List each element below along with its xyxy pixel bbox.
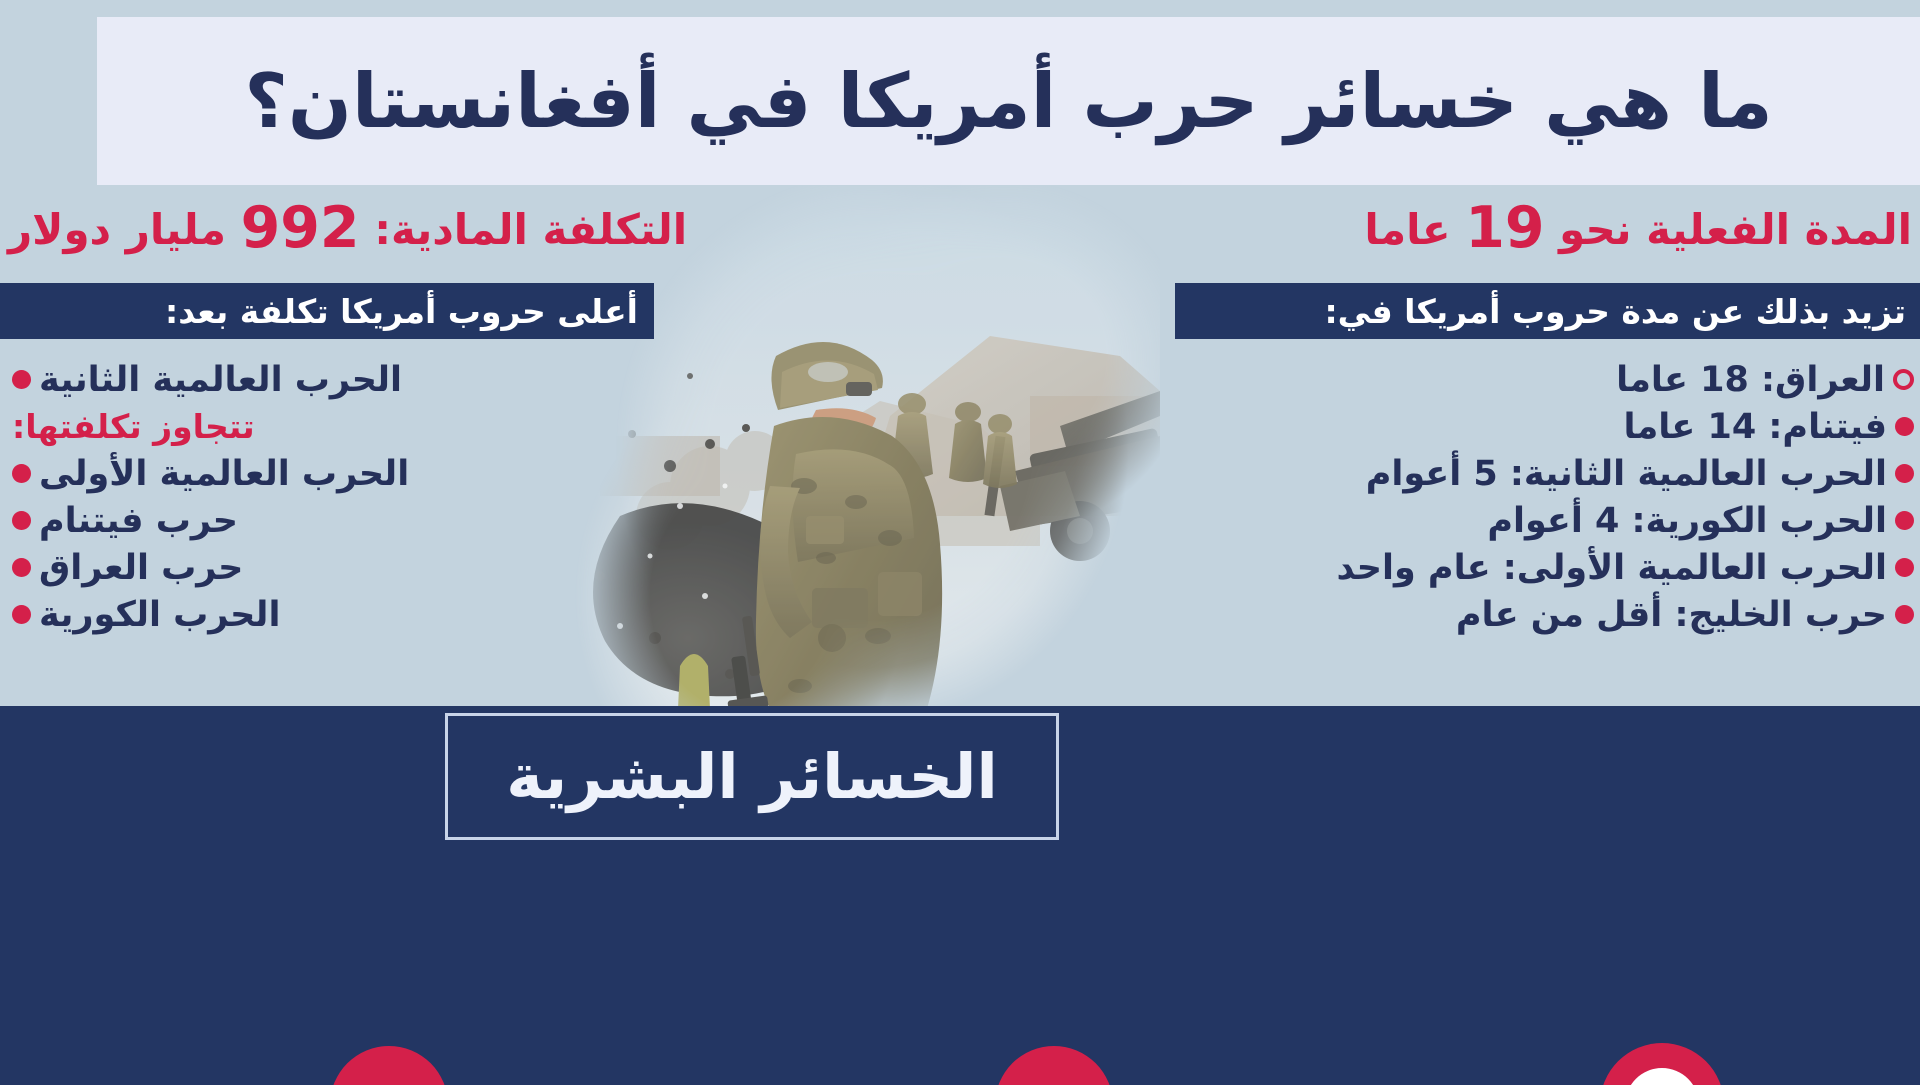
list-item: فيتنام: 14 عاما (1623, 403, 1914, 450)
list-item: الحرب العالمية الثانية: 5 أعوام (1366, 450, 1914, 497)
list-item-label: حرب الخليج: أقل من عام (1456, 595, 1887, 635)
list-item-label: الحرب العالمية الثانية (39, 360, 402, 400)
dot-icon (12, 464, 31, 483)
dot-icon (1895, 558, 1914, 577)
soldier-artillery-photo (560, 186, 1160, 756)
list-item-label: حرب فيتنام (39, 501, 238, 541)
dot-icon (12, 558, 31, 577)
list-item: العراق: 18 عاما (1616, 356, 1914, 403)
duration-headline: المدة الفعلية نحو 19 عاما (1364, 196, 1912, 262)
list-item: حرب فيتنام (0, 497, 238, 544)
list-item: الحرب الكورية: 4 أعوام (1487, 497, 1914, 544)
dot-icon (1895, 511, 1914, 530)
duration-banner-text: تزيد بذلك عن مدة حروب أمريكا في: (1324, 292, 1906, 331)
dot-icon (1895, 464, 1914, 483)
list-item: الحرب العالمية الأولى: عام واحد (1337, 544, 1914, 591)
list-item: الحرب الكورية (0, 591, 280, 638)
list-item-label: الحرب الكورية (39, 595, 280, 635)
cost-note: تتجاوز تكلفتها: (0, 403, 255, 450)
cost-list: الحرب العالمية الثانية تتجاوز تكلفتها: ا… (0, 356, 560, 638)
cost-banner: أعلى حروب أمريكا تكلفة بعد: (0, 283, 654, 339)
list-item: الحرب العالمية الثانية (0, 356, 402, 403)
bottom-circle-right-inner (1625, 1068, 1699, 1085)
bottom-heading-text: الخسائر البشرية (506, 746, 997, 808)
dot-icon (12, 605, 31, 624)
duration-list: العراق: 18 عاما فيتنام: 14 عاما الحرب ال… (1337, 356, 1914, 638)
list-item-label: الحرب العالمية الثانية: 5 أعوام (1366, 454, 1887, 494)
cost-headline-prefix: التكلفة المادية: (374, 205, 687, 254)
bottom-heading-box: الخسائر البشرية (445, 713, 1059, 840)
page-title-text: ما هي خسائر حرب أمريكا في أفغانستان؟ (244, 64, 1772, 139)
duration-headline-number: 19 (1465, 195, 1544, 261)
cost-banner-text: أعلى حروب أمريكا تكلفة بعد: (165, 292, 638, 331)
duration-headline-prefix: المدة الفعلية نحو (1559, 205, 1912, 254)
list-item: الحرب العالمية الأولى (0, 450, 409, 497)
dot-icon (12, 511, 31, 530)
cost-headline-number: 992 (241, 195, 360, 261)
list-item-label: الحرب العالمية الأولى (39, 454, 409, 494)
list-item-label: الحرب العالمية الأولى: عام واحد (1337, 548, 1887, 588)
duration-headline-suffix: عاما (1364, 205, 1450, 254)
list-item: حرب العراق (0, 544, 243, 591)
list-item-label: فيتنام: 14 عاما (1623, 407, 1887, 447)
dot-icon (12, 370, 31, 389)
page-title: ما هي خسائر حرب أمريكا في أفغانستان؟ (97, 17, 1920, 185)
list-item-label: حرب العراق (39, 548, 243, 588)
list-item-label: الحرب الكورية: 4 أعوام (1487, 501, 1887, 541)
infographic-canvas: ما هي خسائر حرب أمريكا في أفغانستان؟ الم… (0, 0, 1920, 1085)
dot-icon (1895, 605, 1914, 624)
hollow-dot-icon (1893, 369, 1914, 390)
duration-banner: تزيد بذلك عن مدة حروب أمريكا في: (1175, 283, 1920, 339)
list-item: حرب الخليج: أقل من عام (1456, 591, 1914, 638)
cost-headline-suffix: مليار دولار (8, 205, 226, 254)
dot-icon (1895, 417, 1914, 436)
cost-headline: التكلفة المادية: 992 مليار دولار (8, 196, 687, 262)
list-item-label: العراق: 18 عاما (1616, 360, 1885, 400)
